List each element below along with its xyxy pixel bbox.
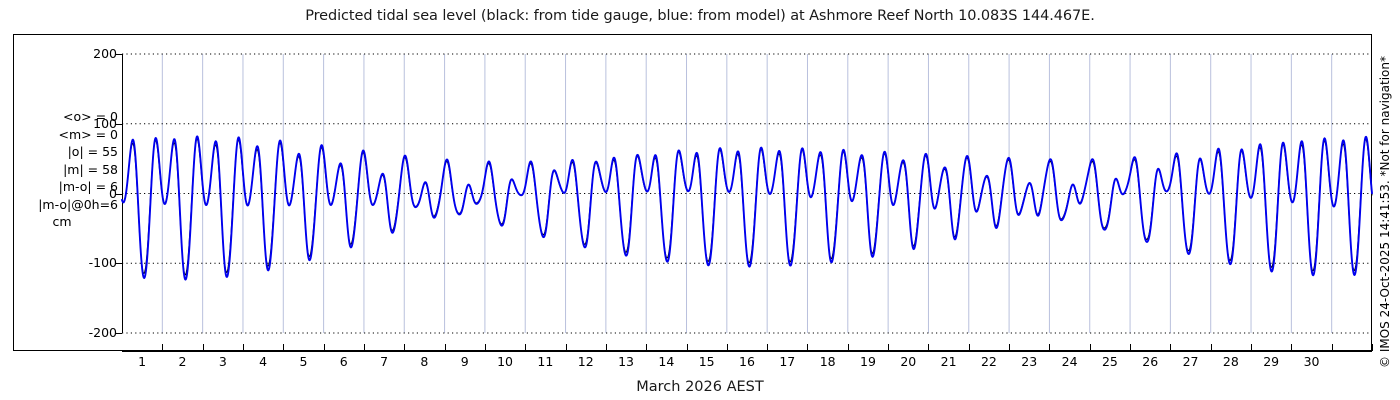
x-tick-mark xyxy=(243,344,244,351)
copyright-notice: © IMOS 24-Oct-2025 14:41:53. *Not for na… xyxy=(1376,8,1394,368)
x-tick-label: 12 xyxy=(578,355,594,369)
y-tick-label: 0 xyxy=(0,188,117,201)
x-tick-mark xyxy=(606,344,607,351)
stat-abs-observed: |o| = 55 xyxy=(14,143,118,161)
x-tick-label: 29 xyxy=(1263,355,1279,369)
x-tick-mark xyxy=(1009,344,1010,351)
x-tick-label: 9 xyxy=(461,355,469,369)
y-tick-label: 200 xyxy=(0,48,117,61)
x-tick-mark xyxy=(1291,344,1292,351)
x-tick-label: 14 xyxy=(658,355,674,369)
x-tick-label: 26 xyxy=(1142,355,1158,369)
x-tick-mark xyxy=(888,344,889,351)
x-tick-mark xyxy=(404,344,405,351)
tide-series-svg xyxy=(122,54,1372,333)
x-tick-mark xyxy=(283,344,284,351)
y-tick-label: 100 xyxy=(0,118,117,131)
x-tick-mark xyxy=(1372,344,1373,351)
x-tick-mark xyxy=(324,344,325,351)
x-tick-label: 15 xyxy=(699,355,715,369)
x-tick-label: 19 xyxy=(860,355,876,369)
x-tick-mark xyxy=(566,344,567,351)
x-tick-label: 7 xyxy=(380,355,388,369)
x-tick-label: 6 xyxy=(340,355,348,369)
x-tick-mark xyxy=(364,344,365,351)
x-axis-title: March 2026 AEST xyxy=(0,378,1400,396)
x-tick-label: 20 xyxy=(900,355,916,369)
x-tick-mark xyxy=(646,344,647,351)
x-tick-label: 3 xyxy=(219,355,227,369)
page-title: Predicted tidal sea level (black: from t… xyxy=(0,6,1400,26)
x-tick-label: 4 xyxy=(259,355,267,369)
x-tick-label: 17 xyxy=(779,355,795,369)
model-line xyxy=(122,136,1372,279)
x-tick-mark xyxy=(1211,344,1212,351)
x-tick-mark xyxy=(1332,344,1333,351)
x-tick-label: 8 xyxy=(420,355,428,369)
x-tick-mark xyxy=(525,344,526,351)
x-tick-label: 30 xyxy=(1304,355,1320,369)
x-tick-label: 27 xyxy=(1183,355,1199,369)
x-tick-label: 25 xyxy=(1102,355,1118,369)
x-tick-mark xyxy=(445,344,446,351)
x-tick-label: 13 xyxy=(618,355,634,369)
x-tick-label: 21 xyxy=(941,355,957,369)
plot-area xyxy=(122,54,1372,333)
y-tick-label: -200 xyxy=(0,327,117,340)
x-tick-mark xyxy=(969,344,970,351)
x-tick-mark xyxy=(1170,344,1171,351)
tidal-chart-page: Predicted tidal sea level (black: from t… xyxy=(0,0,1400,400)
x-tick-label: 2 xyxy=(178,355,186,369)
x-tick-label: 24 xyxy=(1062,355,1078,369)
x-tick-label: 18 xyxy=(820,355,836,369)
x-tick-label: 1 xyxy=(138,355,146,369)
x-tick-mark xyxy=(727,344,728,351)
x-tick-mark xyxy=(928,344,929,351)
stat-units-label: cm xyxy=(14,213,118,231)
x-tick-label: 22 xyxy=(981,355,997,369)
x-tick-mark xyxy=(848,344,849,351)
x-tick-mark xyxy=(203,344,204,351)
x-tick-mark xyxy=(485,344,486,351)
stat-abs-model: |m| = 58 xyxy=(14,161,118,179)
x-tick-label: 16 xyxy=(739,355,755,369)
x-tick-mark xyxy=(1251,344,1252,351)
x-tick-label: 11 xyxy=(537,355,553,369)
x-tick-mark xyxy=(1090,344,1091,351)
x-tick-mark xyxy=(767,344,768,351)
x-tick-mark xyxy=(1130,344,1131,351)
x-tick-label: 23 xyxy=(1021,355,1037,369)
x-tick-mark xyxy=(162,344,163,351)
x-tick-mark xyxy=(687,344,688,351)
x-tick-label: 10 xyxy=(497,355,513,369)
y-tick-label: -100 xyxy=(0,257,117,270)
x-tick-label: 5 xyxy=(299,355,307,369)
horizontal-gridlines xyxy=(122,54,1372,333)
x-tick-label: 28 xyxy=(1223,355,1239,369)
x-axis-line xyxy=(122,351,1372,352)
x-tick-mark xyxy=(807,344,808,351)
x-tick-mark xyxy=(1049,344,1050,351)
